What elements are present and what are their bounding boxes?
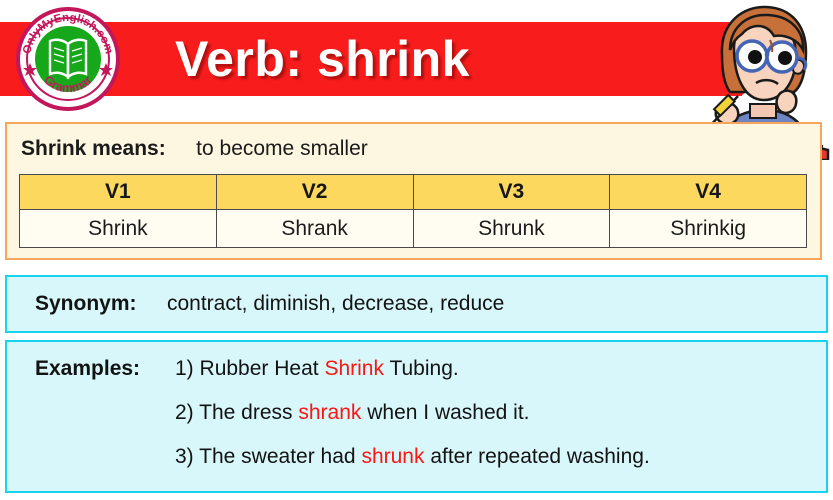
meaning-value: to become smaller <box>196 137 368 160</box>
example-highlight: Shrink <box>324 357 384 380</box>
table-header-v3: V3 <box>413 175 610 210</box>
site-logo[interactable]: OnlyMyEnglish.com Grammar <box>16 7 120 111</box>
synonym-box: Synonym: contract, diminish, decrease, r… <box>5 275 828 333</box>
synonym-row: Synonym: contract, diminish, decrease, r… <box>35 289 504 319</box>
meaning-label: Shrink means: <box>21 137 166 160</box>
examples-list: 1) Rubber Heat Shrink Tubing. 2) The dre… <box>175 354 825 486</box>
synonym-label: Synonym: <box>35 292 137 315</box>
list-item: 1) Rubber Heat Shrink Tubing. <box>175 354 825 384</box>
example-number: 3) <box>175 445 194 468</box>
table-row: Shrink Shrank Shrunk Shrinkig <box>20 210 807 248</box>
open-book-icon <box>49 39 86 78</box>
table-header-v1: V1 <box>20 175 217 210</box>
examples-box: Examples: 1) Rubber Heat Shrink Tubing. … <box>5 340 828 493</box>
example-text-before: The sweater had <box>199 445 355 468</box>
meaning-card: Shrink means: to become smaller V1 V2 V3… <box>5 122 822 260</box>
example-number: 2) <box>175 401 194 424</box>
verb-form-v2: Shrank <box>216 210 413 248</box>
example-text-before: Rubber Heat <box>200 357 319 380</box>
example-text-after: Tubing. <box>389 357 458 380</box>
page-title: Verb: shrink <box>175 24 695 94</box>
table-header-v4: V4 <box>610 175 807 210</box>
table-header-v2: V2 <box>216 175 413 210</box>
example-number: 1) <box>175 357 194 380</box>
page-header: Verb: shrink <box>0 0 833 118</box>
synonym-value: contract, diminish, decrease, reduce <box>167 292 504 315</box>
meaning-row: Shrink means: to become smaller <box>21 132 368 166</box>
list-item: 3) The sweater had shrunk after repeated… <box>175 442 825 472</box>
verb-form-v1: Shrink <box>20 210 217 248</box>
table-header-row: V1 V2 V3 V4 <box>20 175 807 210</box>
example-text-after: after repeated washing. <box>430 445 649 468</box>
verb-forms-table: V1 V2 V3 V4 Shrink Shrank Shrunk Shrinki… <box>19 174 807 248</box>
verb-form-v4: Shrinkig <box>610 210 807 248</box>
example-highlight: shrunk <box>361 445 424 468</box>
examples-label: Examples: <box>35 354 140 384</box>
list-item: 2) The dress shrank when I washed it. <box>175 398 825 428</box>
example-text-before: The dress <box>199 401 292 424</box>
example-text-after: when I washed it. <box>367 401 529 424</box>
verb-form-v3: Shrunk <box>413 210 610 248</box>
example-highlight: shrank <box>298 401 361 424</box>
